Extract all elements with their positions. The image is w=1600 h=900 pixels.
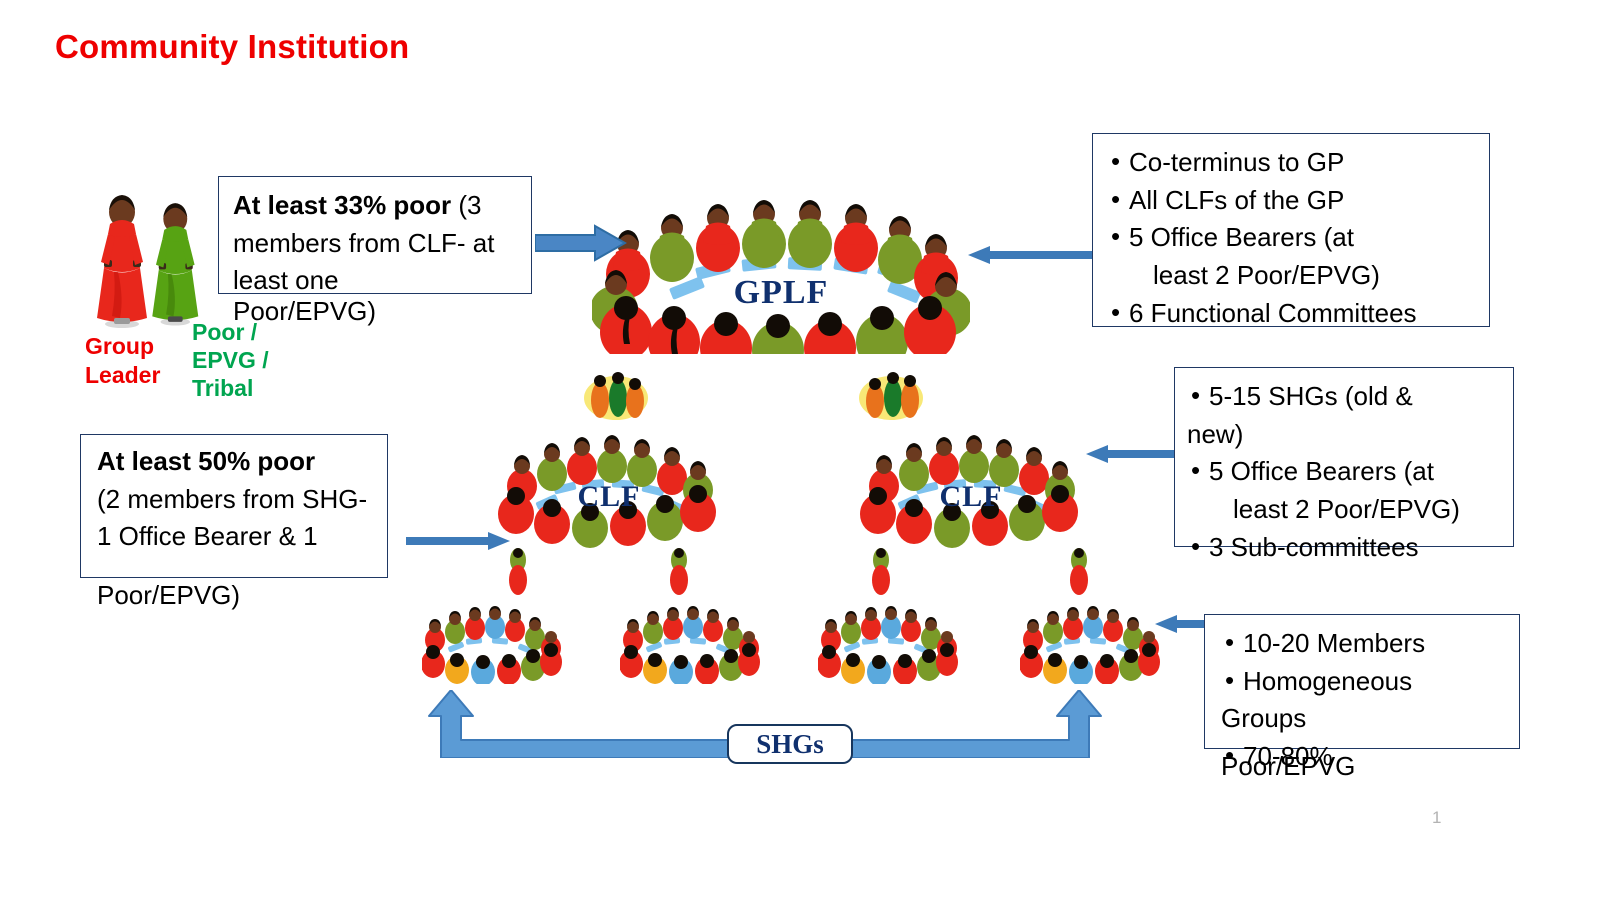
clf-shg-link-figure-3 bbox=[868, 548, 894, 596]
bullet-item-continuation: Groups bbox=[1221, 700, 1511, 738]
page-number: 1 bbox=[1432, 808, 1441, 828]
arrow-clf-facts-icon bbox=[1086, 444, 1178, 464]
callout-gplf-facts-list: Co-terminus to GP All CLFs of the GP 5 O… bbox=[1107, 144, 1481, 332]
page-title: Community Institution bbox=[55, 28, 409, 66]
bullet-item: Homogeneous bbox=[1221, 663, 1511, 701]
callout-clf-facts-list: 5-15 SHGs (old & new) 5 Office Bearers (… bbox=[1187, 378, 1505, 566]
bullet-item-continuation: new) bbox=[1187, 416, 1505, 454]
arrow-to-clf-icon bbox=[406, 531, 510, 551]
link-figures-right-clipart bbox=[855, 368, 927, 424]
clf-shg-link-figure-4 bbox=[1066, 548, 1092, 596]
clf-left-group-clipart: CLF bbox=[498, 428, 720, 550]
callout-gplf-facts: Co-terminus to GP All CLFs of the GP 5 O… bbox=[1092, 133, 1490, 327]
bullet-item: 70-80% bbox=[1221, 738, 1511, 776]
clf-left-label: CLF bbox=[498, 480, 720, 514]
callout-clf-composition-overflow: Poor/EPVG) bbox=[81, 577, 387, 615]
bullet-item-continuation: least 2 Poor/EPVG) bbox=[1187, 491, 1505, 529]
bullet-item: All CLFs of the GP bbox=[1107, 182, 1481, 220]
callout-shg-facts-list: 10-20 Members Homogeneous Groups 70-80% bbox=[1221, 625, 1511, 776]
standing-women-clipart bbox=[88, 172, 218, 332]
woman-red-figure bbox=[97, 195, 147, 328]
bullet-item: 5 Office Bearers (at bbox=[1187, 453, 1505, 491]
shgs-pill-label: SHGs bbox=[727, 724, 853, 764]
gplf-group-clipart: GPLF bbox=[592, 186, 970, 354]
legend-group-leader: Group Leader bbox=[85, 332, 200, 390]
bullet-item: 3 Sub-committees bbox=[1187, 529, 1505, 567]
shg-group-clipart-3 bbox=[818, 604, 958, 684]
clf-shg-link-figure-1 bbox=[505, 548, 531, 596]
callout-clf-composition: At least 50% poor (2 members from SHG- 1… bbox=[80, 434, 388, 578]
callout-gplf-composition: At least 33% poor (3 members from CLF- a… bbox=[218, 176, 532, 294]
bullet-item: 5-15 SHGs (old & bbox=[1187, 378, 1505, 416]
callout-clf-facts: 5-15 SHGs (old & new) 5 Office Bearers (… bbox=[1174, 367, 1514, 547]
shg-group-clipart-1 bbox=[422, 604, 562, 684]
bullet-item: 10-20 Members bbox=[1221, 625, 1511, 663]
woman-green-figure bbox=[152, 203, 198, 325]
clf-right-label: CLF bbox=[860, 480, 1082, 514]
callout-clf-composition-rest: (2 members from SHG- 1 Office Bearer & 1 bbox=[97, 481, 379, 556]
callout-shg-facts: 10-20 Members Homogeneous Groups 70-80% … bbox=[1204, 614, 1520, 749]
bullet-item-continuation: least 2 Poor/EPVG) bbox=[1107, 257, 1481, 295]
clf-shg-link-figure-2 bbox=[666, 548, 692, 596]
bullet-item: 6 Functional Committees bbox=[1107, 295, 1481, 333]
arrow-shg-facts-icon bbox=[1155, 614, 1211, 634]
shg-group-clipart-4 bbox=[1020, 604, 1160, 684]
arrow-gplf-facts-icon bbox=[968, 245, 1096, 265]
arrow-to-gplf-icon bbox=[535, 224, 627, 262]
link-figures-left-clipart bbox=[580, 368, 652, 424]
bullet-item: Co-terminus to GP bbox=[1107, 144, 1481, 182]
legend-poor-epvg-tribal: Poor / EPVG / Tribal bbox=[192, 318, 302, 402]
callout-clf-composition-bold: At least 50% poor bbox=[97, 443, 379, 481]
bullet-item: 5 Office Bearers (at bbox=[1107, 219, 1481, 257]
shg-group-clipart-2 bbox=[620, 604, 760, 684]
clf-right-group-clipart: CLF bbox=[860, 428, 1082, 550]
callout-gplf-composition-bold: At least 33% poor bbox=[233, 190, 451, 220]
gplf-label: GPLF bbox=[592, 274, 970, 312]
